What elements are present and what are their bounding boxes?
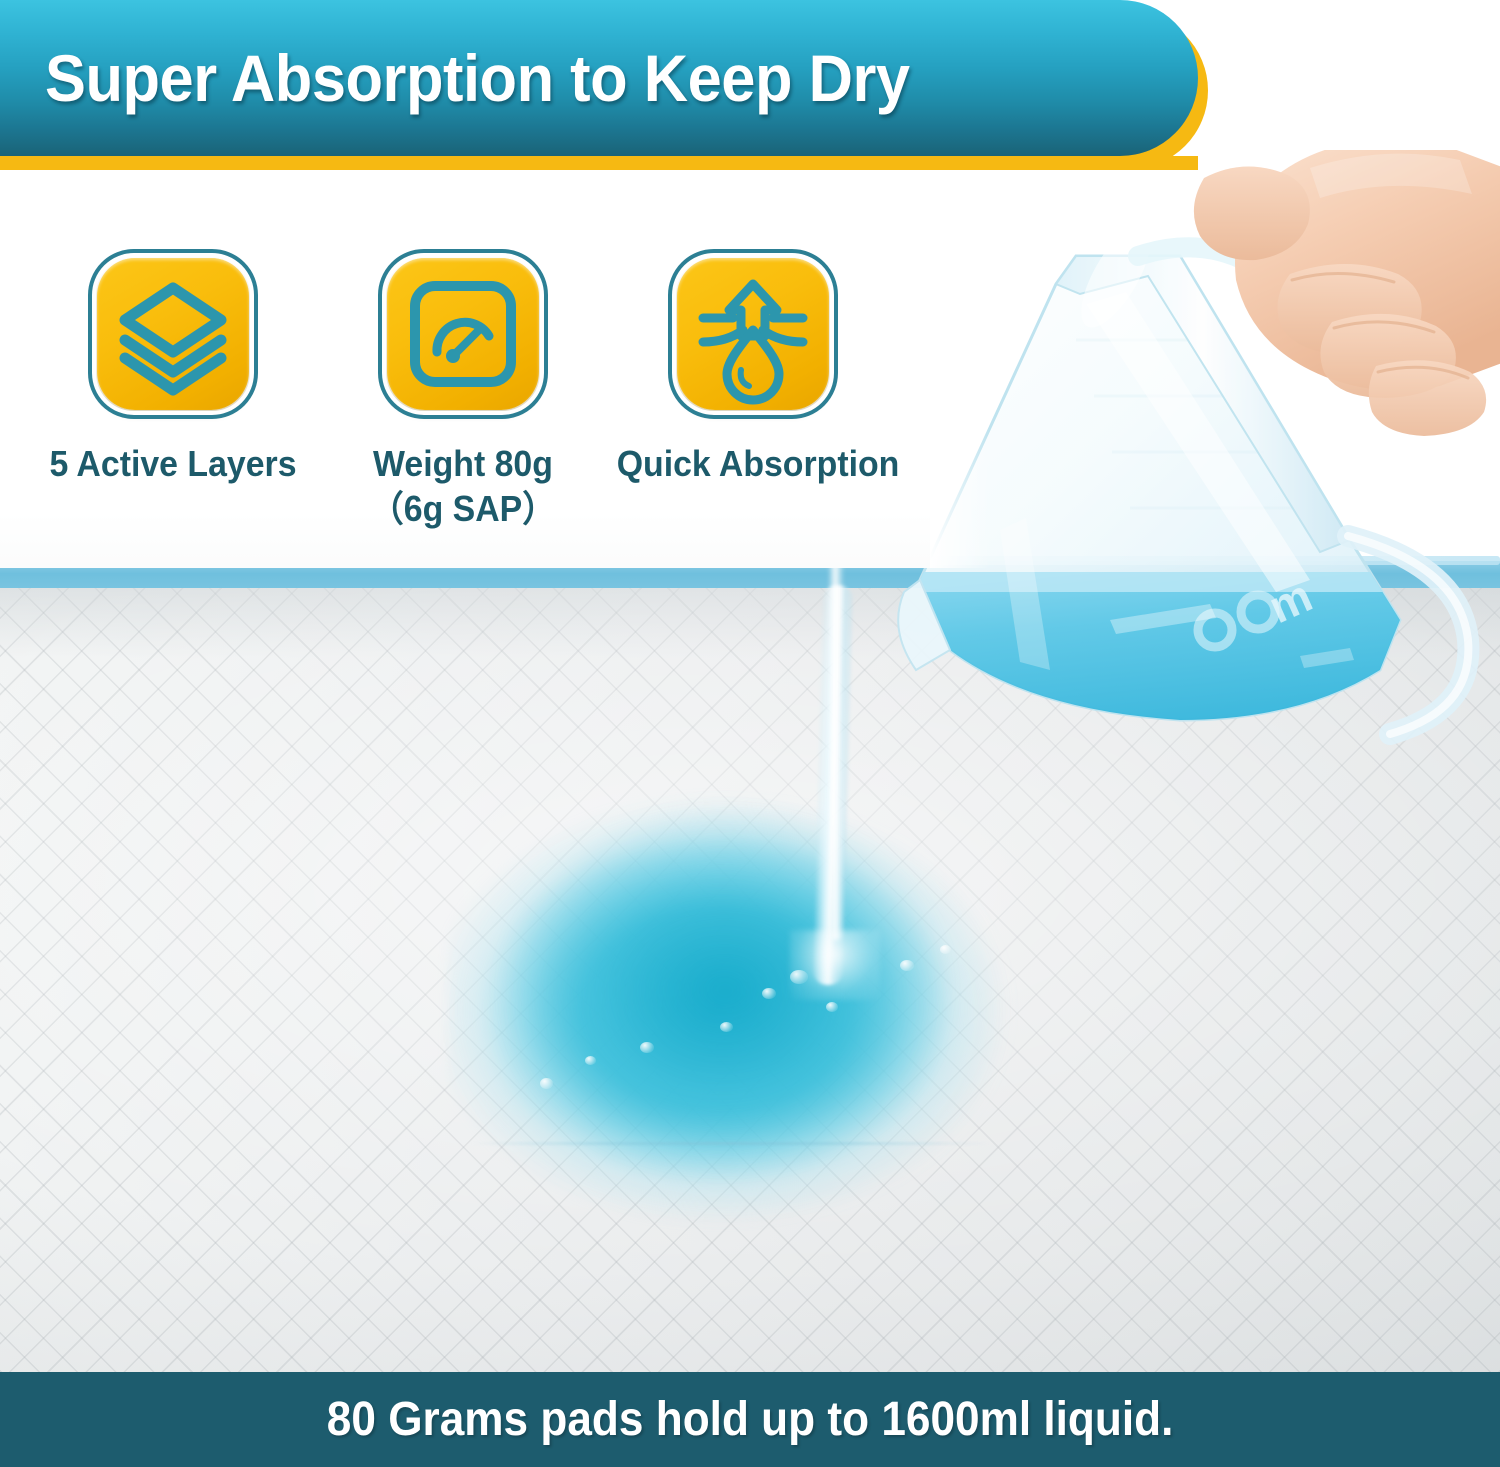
layers-stack-icon [97,258,249,410]
feature-label-absorption: Quick Absorption [617,442,890,486]
feature-label-layers: 5 Active Layers [37,442,310,486]
feature-item-absorption[interactable]: Quick Absorption [608,258,898,486]
product-photo: m [0,0,1500,1372]
liquid-pool-core [500,800,950,1180]
footer-caption: 80 Grams pads hold up to 1600ml liquid. [327,1392,1174,1447]
bubble [585,1056,596,1065]
gauge-weight-icon [387,258,539,410]
footer-banner: 80 Grams pads hold up to 1600ml liquid. [0,1372,1500,1467]
hand-holding-pitcher [1140,150,1500,480]
bubble [640,1042,654,1053]
pouring-stream-highlight [828,560,844,940]
page-title: Super Absorption to Keep Dry [45,40,910,116]
bubble [762,988,776,999]
splash-highlight [790,930,880,1000]
bubble [826,1002,838,1012]
quick-absorption-icon [677,258,829,410]
bubble [720,1022,733,1032]
header-banner-group: Super Absorption to Keep Dry [0,0,1260,172]
feature-sublabel-weight: （6g SAP） [327,486,600,531]
feature-row: 5 Active Layers Weight 80g （6g SAP） [0,258,930,558]
header-yellow-accent-strip [0,156,1198,170]
bubble [900,960,914,971]
feature-item-weight[interactable]: Weight 80g （6g SAP） [318,258,608,531]
feature-label-weight: Weight 80g [327,442,600,486]
bubble [940,945,951,954]
pad-seam-line [470,1142,990,1145]
bubble [540,1078,553,1089]
header-banner: Super Absorption to Keep Dry [0,0,1198,156]
product-feature-image: m [0,0,1500,1467]
feature-item-layers[interactable]: 5 Active Layers [28,258,318,486]
